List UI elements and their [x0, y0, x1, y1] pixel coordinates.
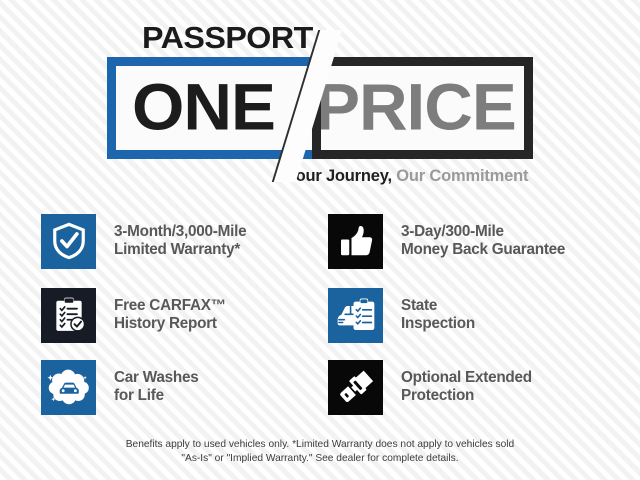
benefit-label: Optional Extended Protection	[401, 369, 532, 406]
one-word: ONE	[132, 74, 275, 140]
benefit-item-extended-protection: Optional Extended Protection	[328, 359, 609, 415]
tagline-primary: Your Journey,	[286, 167, 392, 185]
benefit-label: Free CARFAX™ History Report	[114, 297, 226, 334]
car-wash-suds-icon	[41, 360, 96, 415]
clipboard-check-icon	[41, 288, 96, 343]
seatbelt-buckle-icon	[328, 360, 383, 415]
thumbs-up-icon	[328, 214, 383, 269]
tagline: Your Journey, Our Commitment	[286, 166, 528, 186]
benefit-item-money-back: 3-Day/300-Mile Money Back Guarantee	[328, 213, 609, 269]
benefits-grid: 3-Month/3,000-Mile Limited Warranty* 3-D…	[41, 213, 609, 425]
benefit-label: 3-Day/300-Mile Money Back Guarantee	[401, 223, 565, 260]
car-clipboard-inspection-icon	[328, 288, 383, 343]
benefit-item-state-inspection: State Inspection	[328, 287, 609, 343]
benefit-label: Car Washes for Life	[114, 369, 199, 406]
price-badge: PRICE	[312, 57, 533, 159]
benefit-item-carfax-report: Free CARFAX™ History Report	[41, 287, 321, 343]
price-badge-inner: PRICE	[321, 66, 524, 150]
disclaimer-text: Benefits apply to used vehicles only. *L…	[60, 438, 580, 465]
passport-brand-wordmark: PASSPORT	[142, 22, 313, 54]
benefit-item-limited-warranty: 3-Month/3,000-Mile Limited Warranty*	[41, 213, 321, 269]
promo-banner: PASSPORT ONE PRICE Your Journey, Our Com…	[0, 0, 640, 480]
benefit-label: 3-Month/3,000-Mile Limited Warranty*	[114, 223, 246, 260]
price-word: PRICE	[321, 74, 516, 140]
tagline-secondary: Our Commitment	[396, 167, 528, 185]
benefit-label: State Inspection	[401, 297, 475, 334]
passport-one-price-logo: PASSPORT ONE PRICE Your Journey, Our Com…	[0, 0, 640, 200]
benefit-item-car-washes: Car Washes for Life	[41, 359, 321, 415]
shield-check-icon	[41, 214, 96, 269]
